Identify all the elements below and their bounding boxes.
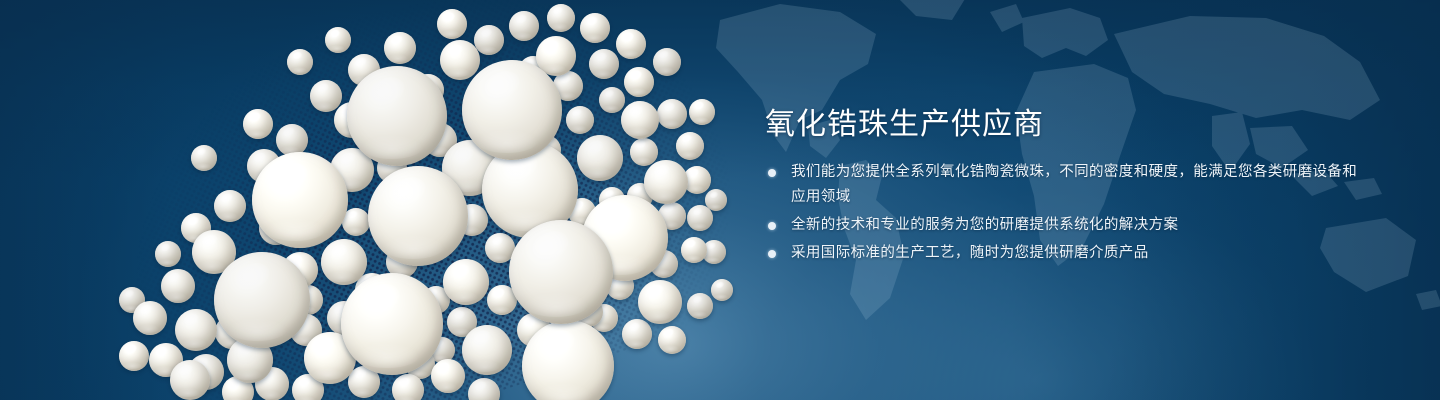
list-item-label: 采用国际标准的生产工艺，随时为您提供研磨介质产品: [791, 245, 1149, 261]
hero-banner: 氧化锆珠生产供应商 我们能为您提供全系列氧化锆陶瓷微珠，不同的密度和硬度，能满足…: [0, 0, 1440, 400]
feature-list: 我们能为您提供全系列氧化锆陶瓷微珠，不同的密度和硬度，能满足您各类研磨设备和应用…: [765, 160, 1365, 266]
list-item: 我们能为您提供全系列氧化锆陶瓷微珠，不同的密度和硬度，能满足您各类研磨设备和应用…: [765, 160, 1365, 210]
list-item-label: 我们能为您提供全系列氧化锆陶瓷微珠，不同的密度和硬度，能满足您各类研磨设备和应用…: [791, 164, 1357, 205]
banner-text-block: 氧化锆珠生产供应商 我们能为您提供全系列氧化锆陶瓷微珠，不同的密度和硬度，能满足…: [765, 106, 1365, 269]
list-item: 全新的技术和专业的服务为您的研磨提供系统化的解决方案: [765, 213, 1365, 238]
bullet-dot-icon: [768, 169, 776, 177]
list-item-label: 全新的技术和专业的服务为您的研磨提供系统化的解决方案: [791, 217, 1178, 233]
bullet-dot-icon: [768, 222, 776, 230]
page-title: 氧化锆珠生产供应商: [765, 106, 1365, 144]
list-item: 采用国际标准的生产工艺，随时为您提供研磨介质产品: [765, 241, 1365, 266]
bullet-dot-icon: [768, 250, 776, 258]
